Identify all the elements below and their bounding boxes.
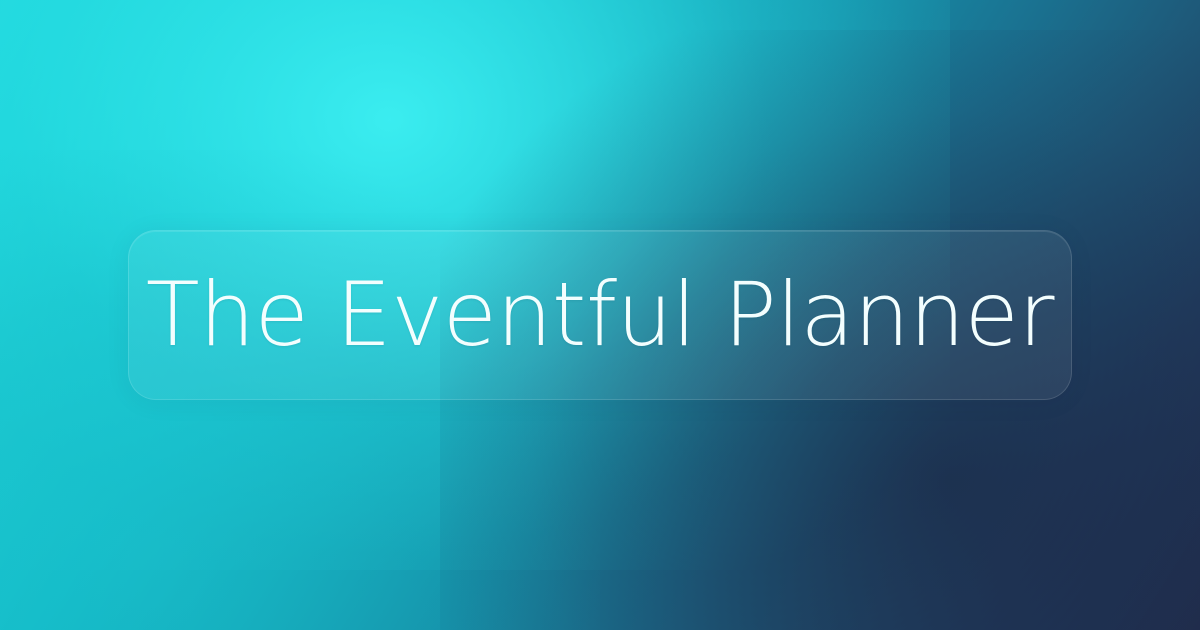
page-title: The Eventful Planner bbox=[118, 271, 1082, 359]
banner-canvas: The Eventful Planner bbox=[0, 0, 1200, 630]
title-card: The Eventful Planner bbox=[128, 230, 1072, 400]
